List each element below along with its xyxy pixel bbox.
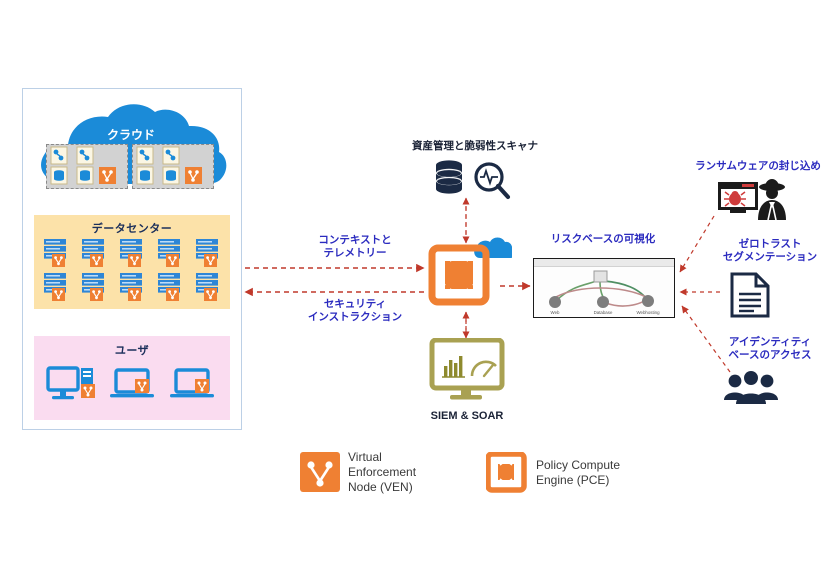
vm-icon <box>51 147 67 164</box>
cloud-vm-group <box>46 144 128 189</box>
laptop-icon <box>110 370 154 397</box>
siem-label: SIEM & SOAR <box>406 410 528 423</box>
ven-badge-icon <box>90 288 103 301</box>
ven-icon <box>300 452 342 494</box>
risk-visibility-panel[interactable]: Web Database Webhosting <box>533 258 675 318</box>
asset-scanner-icons <box>430 158 520 203</box>
graph-node-label-webhosting: Webhosting <box>636 310 660 315</box>
asset-scanner-label: 資産管理と脆弱性スキャナ <box>380 140 570 153</box>
database-cylinder-icon <box>436 160 462 193</box>
user-endpoints <box>40 364 224 414</box>
legend-label-ven: Virtual Enforcement Node (VEN) <box>348 450 458 495</box>
server-rack-icon <box>196 273 218 301</box>
siem-icon <box>428 338 506 406</box>
ven-badge-icon <box>185 167 202 184</box>
server-rack-icon <box>196 239 218 267</box>
laptop-icon <box>170 370 214 397</box>
server-rack-icon <box>120 239 142 267</box>
ven-badge-icon <box>52 288 65 301</box>
user-zone: ユーザ <box>34 336 230 420</box>
bug-icon <box>724 191 746 206</box>
network-graph-icon: Web Database Webhosting <box>534 267 671 316</box>
ven-badge-icon <box>135 379 149 393</box>
ven-badge-icon <box>52 254 65 267</box>
datacenter-servers <box>34 237 230 307</box>
ven-badge-icon <box>99 167 116 184</box>
ven-badge-icon <box>90 254 103 267</box>
ven-badge-icon <box>204 254 217 267</box>
pce-core <box>445 261 473 289</box>
cloud-vm-group <box>132 144 214 189</box>
server-rack-icon <box>120 273 142 301</box>
legend-label-pce: Policy Compute Engine (PCE) <box>536 458 666 488</box>
gauge-icon <box>472 362 496 376</box>
outcome-label-identity-access: アイデンティティ ベースのアクセス <box>700 336 840 362</box>
server-rack-icon <box>82 239 104 267</box>
ven-badge-icon <box>128 288 141 301</box>
cloud-zone-label: クラウド <box>107 128 155 142</box>
datacenter-zone: データセンター <box>34 215 230 309</box>
ransomware-hacker-icon <box>716 178 792 220</box>
cloud-zone: クラウド <box>22 92 240 202</box>
database-icon <box>51 167 67 184</box>
panel-titlebar <box>534 259 674 267</box>
desktop-computer-icon <box>48 368 95 399</box>
bar-chart-icon <box>442 356 465 377</box>
server-rack-icon <box>82 273 104 301</box>
ven-badge-icon <box>166 254 179 267</box>
server-rack-icon <box>44 273 66 301</box>
server-rack-icon <box>158 239 180 267</box>
user-label: ユーザ <box>34 336 230 358</box>
outcome-label-ransomware: ランサムウェアの封じ込め <box>676 160 840 173</box>
hacker-figure-icon <box>758 179 786 220</box>
pce-node[interactable] <box>428 234 512 314</box>
ven-badge-icon <box>166 288 179 301</box>
diagram-canvas: クラウド <box>0 0 840 582</box>
flow-label-security-instruction: セキュリティ インストラクション <box>290 298 420 324</box>
legend: Virtual Enforcement Node (VEN) Policy Co… <box>300 450 700 500</box>
graph-node-label-web: Web <box>551 310 561 315</box>
flow-label-context-telemetry: コンテキストと テレメトリー <box>290 234 420 260</box>
datacenter-label: データセンター <box>34 215 230 236</box>
ven-badge-icon <box>81 384 95 398</box>
outcome-label-zero-trust-segmentation: ゼロトラスト セグメンテーション <box>700 238 840 264</box>
user-group-icon <box>722 368 780 406</box>
pce-icon <box>486 452 528 494</box>
ven-badge-icon <box>204 288 217 301</box>
graph-node-label-database: Database <box>594 310 613 315</box>
ven-badge-icon <box>128 254 141 267</box>
risk-visibility-label: リスクベースの可視化 <box>528 233 678 246</box>
ven-badge-icon <box>195 379 209 393</box>
magnifier-pulse-icon <box>476 164 508 197</box>
policy-document-icon <box>728 272 772 318</box>
server-rack-icon <box>44 239 66 267</box>
server-rack-icon <box>158 273 180 301</box>
